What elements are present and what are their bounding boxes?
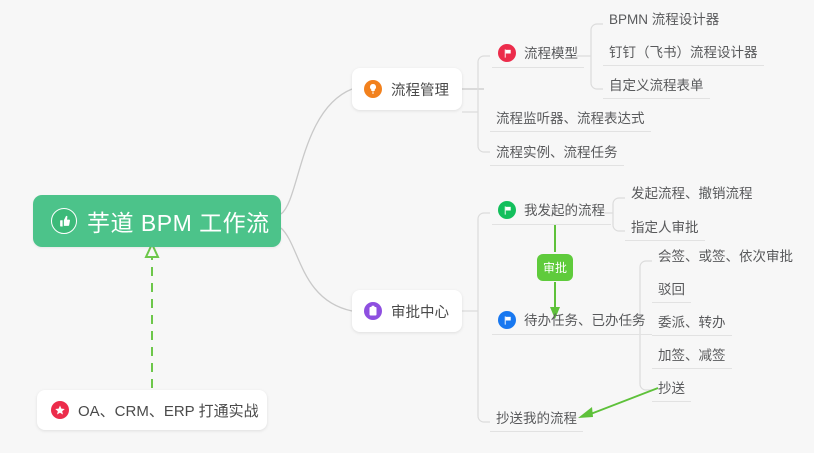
leaf-dingtalk-designer[interactable]: 钉钉（飞书）流程设计器 xyxy=(603,45,764,66)
approval-pill-label: 审批 xyxy=(543,259,567,276)
leaf-label-dingtalk-designer: 钉钉（飞书）流程设计器 xyxy=(609,45,758,60)
lightbulb-icon xyxy=(364,80,382,98)
leaf-label-instance-task: 流程实例、流程任务 xyxy=(496,145,618,160)
link-root-to-approval-center xyxy=(281,228,352,311)
leaf-label-add-remove-sign: 加签、减签 xyxy=(658,348,726,363)
leaf-reject[interactable]: 驳回 xyxy=(652,282,691,303)
bracket-process-model xyxy=(591,24,603,89)
leaf-start-cancel-process[interactable]: 发起流程、撤销流程 xyxy=(625,186,759,206)
bracket-process-management xyxy=(478,56,490,152)
leaf-instance-task[interactable]: 流程实例、流程任务 xyxy=(490,145,624,166)
integration-node[interactable]: OA、CRM、ERP 打通实战 xyxy=(37,390,267,430)
approval-pill: 审批 xyxy=(537,254,573,281)
thumbs-up-icon xyxy=(51,208,77,234)
branch-label-approval-center: 审批中心 xyxy=(391,301,449,322)
leaf-label-process-model: 流程模型 xyxy=(524,46,578,61)
leaf-label-start-cancel-process: 发起流程、撤销流程 xyxy=(631,186,753,201)
flag-icon xyxy=(498,311,516,329)
clipboard-icon xyxy=(364,302,382,320)
leaf-bpmn-designer[interactable]: BPMN 流程设计器 xyxy=(603,12,725,32)
flag-icon xyxy=(498,44,516,62)
leaf-todo-done-tasks[interactable]: 待办任务、已办任务 xyxy=(492,311,652,335)
star-icon xyxy=(51,401,69,419)
leaf-label-listener-expression: 流程监听器、流程表达式 xyxy=(496,111,645,126)
leaf-add-remove-sign[interactable]: 加签、减签 xyxy=(652,348,732,369)
link-root-to-process-management xyxy=(281,89,352,214)
root-node-label: 芋道 BPM 工作流 xyxy=(87,204,270,238)
arrow-cc-to-cc-my-processes xyxy=(588,388,658,415)
branch-label-process-management: 流程管理 xyxy=(391,79,449,100)
leaf-label-todo-done-tasks: 待办任务、已办任务 xyxy=(524,313,646,328)
leaf-listener-expression[interactable]: 流程监听器、流程表达式 xyxy=(490,111,651,132)
leaf-my-processes[interactable]: 我发起的流程 xyxy=(492,201,611,225)
bracket-my-processes xyxy=(613,198,625,231)
mindmap-canvas: 芋道 BPM 工作流 流程管理 流程模型 BPMN 流程设计器 钉钉（飞书）流程… xyxy=(0,0,814,453)
integration-node-label: OA、CRM、ERP 打通实战 xyxy=(78,400,259,421)
branch-node-process-management[interactable]: 流程管理 xyxy=(352,68,462,110)
leaf-label-delegate-transfer: 委派、转办 xyxy=(658,315,726,330)
leaf-label-countersign: 会签、或签、依次审批 xyxy=(658,249,793,264)
leaf-label-cc: 抄送 xyxy=(658,381,685,396)
leaf-process-model[interactable]: 流程模型 xyxy=(492,44,584,68)
leaf-label-my-processes: 我发起的流程 xyxy=(524,203,605,218)
leaf-delegate-transfer[interactable]: 委派、转办 xyxy=(652,315,732,336)
leaf-label-custom-form: 自定义流程表单 xyxy=(609,78,704,93)
leaf-label-assignee-approval: 指定人审批 xyxy=(631,220,699,235)
root-node[interactable]: 芋道 BPM 工作流 xyxy=(33,195,281,247)
leaf-label-cc-my-processes: 抄送我的流程 xyxy=(496,411,577,426)
leaf-assignee-approval[interactable]: 指定人审批 xyxy=(625,220,705,241)
flag-icon xyxy=(498,201,516,219)
leaf-label-bpmn-designer: BPMN 流程设计器 xyxy=(609,12,719,27)
branch-node-approval-center[interactable]: 审批中心 xyxy=(352,290,462,332)
leaf-custom-form[interactable]: 自定义流程表单 xyxy=(603,78,710,99)
leaf-countersign[interactable]: 会签、或签、依次审批 xyxy=(652,249,799,269)
bracket-approval-center xyxy=(478,213,490,422)
leaf-cc[interactable]: 抄送 xyxy=(652,381,691,402)
leaf-cc-my-processes[interactable]: 抄送我的流程 xyxy=(490,411,583,432)
leaf-label-reject: 驳回 xyxy=(658,282,685,297)
